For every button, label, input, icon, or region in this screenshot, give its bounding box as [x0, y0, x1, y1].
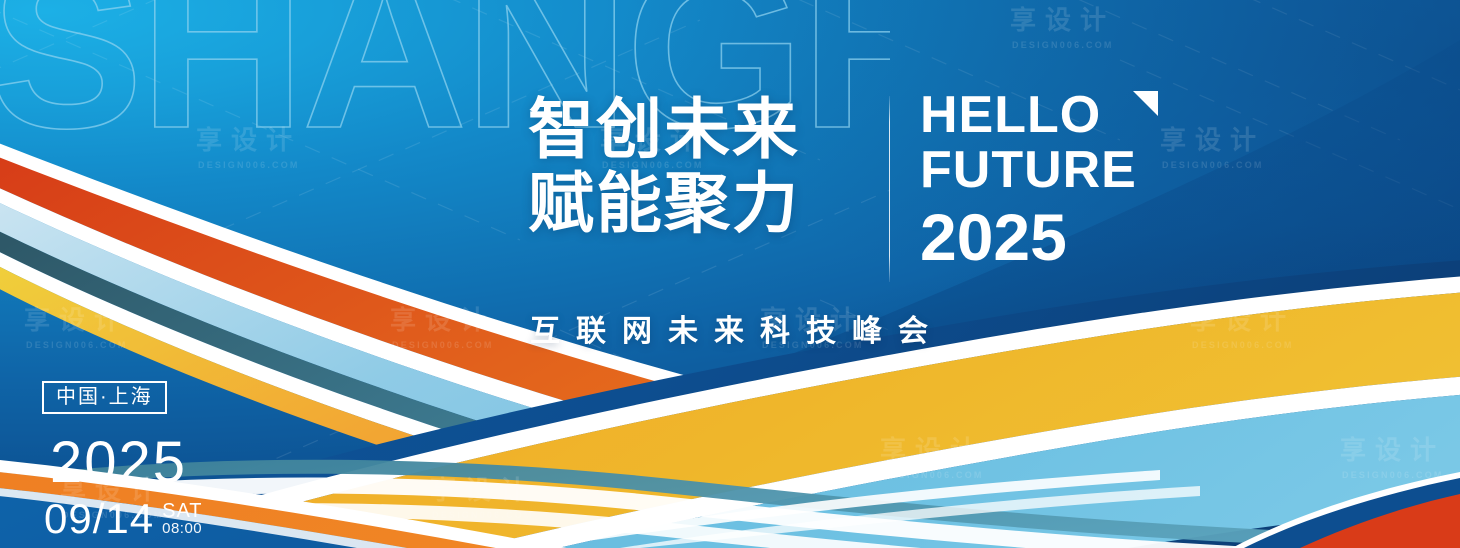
- corner-triangle-icon: [1131, 91, 1158, 118]
- headline-cn-line-2: 赋能聚力: [528, 166, 880, 240]
- event-time: 08:00: [162, 521, 202, 537]
- headline-en-line-2: FUTURE: [920, 143, 1160, 198]
- event-dow-time: SAT 08:00: [162, 502, 202, 540]
- event-date-row: 09/14 SAT 08:00: [44, 498, 203, 540]
- event-year: 2025: [50, 434, 203, 492]
- event-day-of-week: SAT: [162, 502, 202, 521]
- headline-block: 智创未来 赋能聚力 HELLO FUTURE 2025: [528, 92, 1148, 292]
- date-location-block: 中国·上海 2025 09/14 SAT 08:00: [42, 381, 203, 540]
- headline-divider: [889, 96, 890, 282]
- headline-english: HELLO FUTURE 2025: [920, 88, 1160, 272]
- headline-chinese: 智创未来 赋能聚力: [528, 92, 880, 240]
- event-banner: SHANGHAI: [0, 0, 1460, 548]
- headline-en-year: 2025: [920, 202, 1160, 272]
- city-badge: 中国·上海: [42, 381, 167, 414]
- subtitle: 互联网未来科技峰会: [530, 306, 944, 350]
- headline-cn-line-1: 智创未来: [528, 92, 880, 166]
- event-day-month: 09/14: [44, 498, 154, 540]
- headline-en-line-1: HELLO: [920, 88, 1160, 143]
